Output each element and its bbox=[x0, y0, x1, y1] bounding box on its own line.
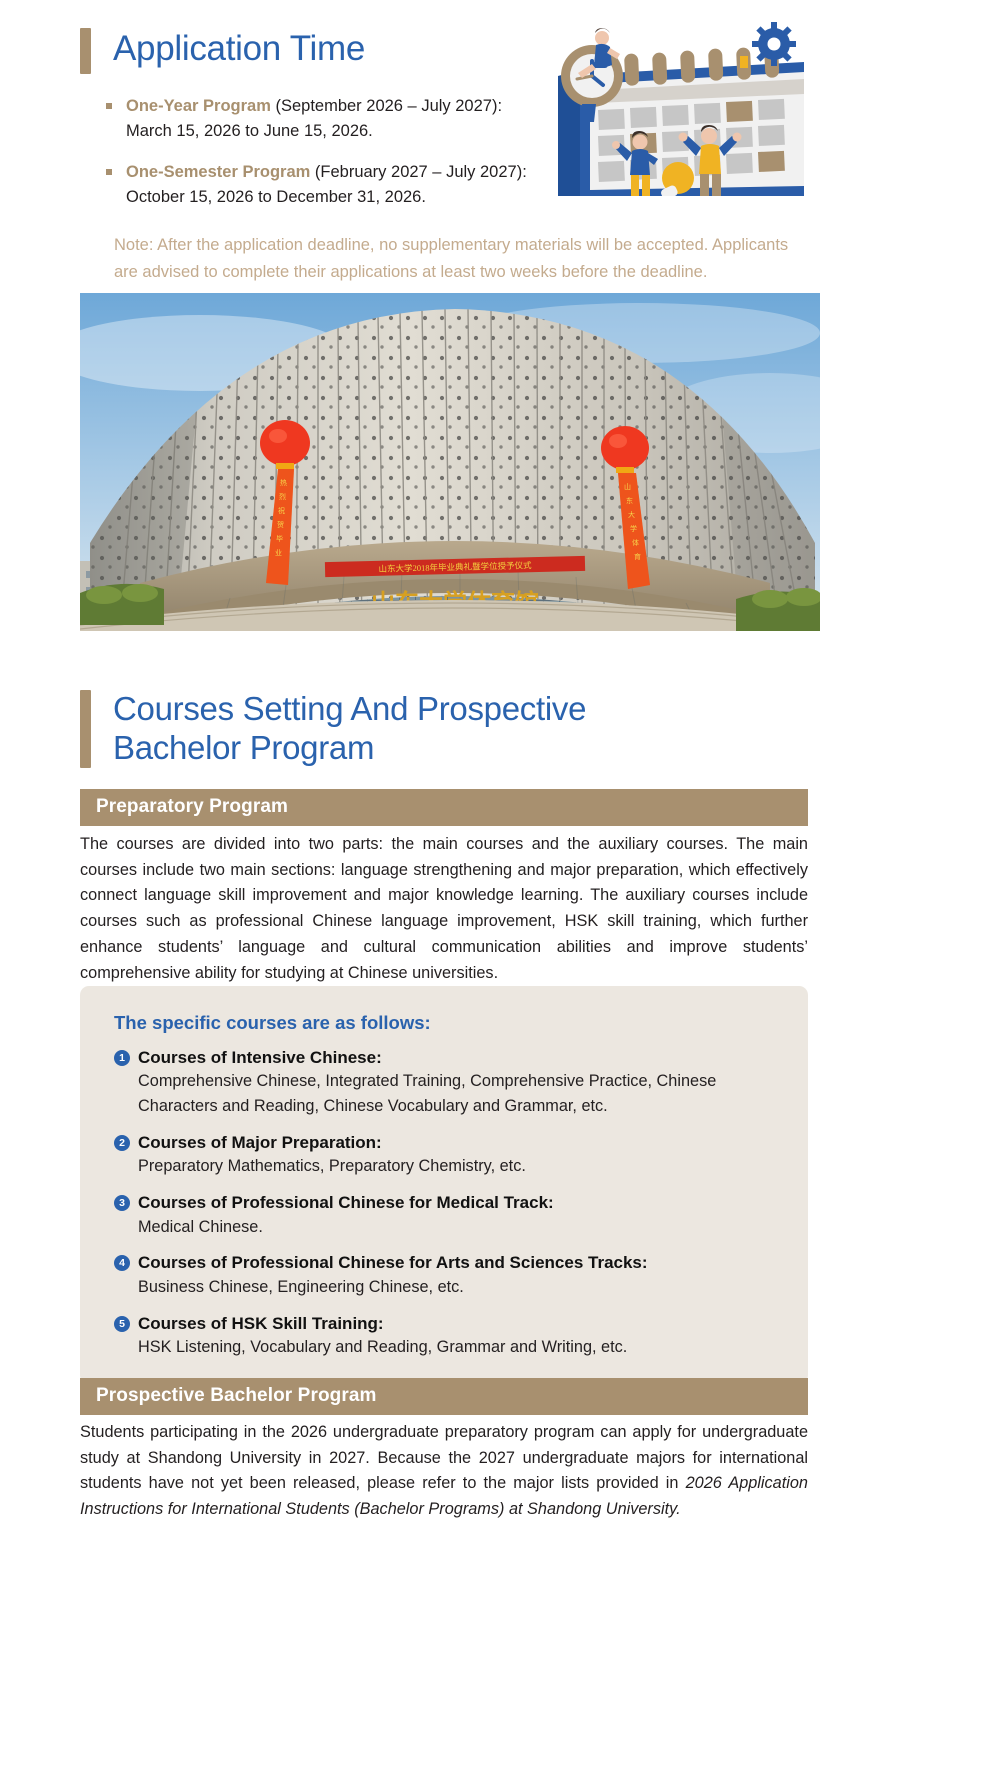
course-title: Courses of Intensive Chinese: bbox=[138, 1047, 382, 1069]
section-title: Courses Setting And Prospective Bachelor… bbox=[113, 690, 586, 768]
list-item: One-Semester Program (February 2027 – Ju… bbox=[106, 160, 550, 210]
svg-text:山: 山 bbox=[624, 482, 631, 491]
application-time-bullets: One-Year Program (September 2026 – July … bbox=[106, 94, 550, 210]
svg-text:贺: 贺 bbox=[277, 520, 284, 529]
course-title-row: 5 Courses of HSK Skill Training: bbox=[114, 1313, 778, 1335]
card-heading: The specific courses are as follows: bbox=[114, 1012, 778, 1034]
svg-text:大: 大 bbox=[628, 510, 635, 519]
list-item: 2 Courses of Major Preparation: Preparat… bbox=[114, 1132, 778, 1179]
prospective-bachelor-program-paragraph: Students participating in the 2026 under… bbox=[80, 1420, 808, 1523]
svg-text:祝: 祝 bbox=[278, 506, 285, 515]
page-title: Application Time bbox=[113, 28, 365, 69]
svg-text:育: 育 bbox=[634, 552, 641, 561]
preparatory-program-band: Preparatory Program bbox=[80, 789, 808, 826]
calendar-clock-illustration bbox=[536, 18, 804, 196]
bullet-strong-label: One-Semester Program bbox=[126, 163, 310, 181]
heading-accent-bar bbox=[80, 690, 91, 768]
svg-text:学: 学 bbox=[630, 524, 637, 533]
pbp-text-part3: . bbox=[676, 1500, 681, 1518]
preparatory-program-paragraph: The courses are divided into two parts: … bbox=[80, 832, 808, 986]
course-title: Courses of Professional Chinese for Arts… bbox=[138, 1252, 648, 1274]
heading-accent-bar bbox=[80, 28, 91, 74]
course-detail: Medical Chinese. bbox=[138, 1215, 778, 1240]
list-item: One-Year Program (September 2026 – July … bbox=[106, 94, 550, 144]
course-title: Courses of Professional Chinese for Medi… bbox=[138, 1192, 554, 1214]
list-item: 1 Courses of Intensive Chinese: Comprehe… bbox=[114, 1047, 778, 1119]
course-title: Courses of Major Preparation: bbox=[138, 1132, 382, 1154]
courses-section: Courses Setting And Prospective Bachelor… bbox=[80, 690, 820, 768]
course-detail: HSK Listening, Vocabulary and Reading, G… bbox=[138, 1335, 778, 1360]
course-title-row: 1 Courses of Intensive Chinese: bbox=[114, 1047, 778, 1069]
shandong-university-gymnasium-photo: 山东大学体育馆 SHANDONG UNIVERSITY GYMNASIUM 热烈… bbox=[80, 293, 820, 631]
application-time-section: Application Time One-Year Program (Septe… bbox=[80, 28, 550, 226]
svg-text:业: 业 bbox=[275, 548, 282, 557]
svg-text:毕: 毕 bbox=[276, 534, 283, 543]
course-title-row: 3 Courses of Professional Chinese for Me… bbox=[114, 1192, 778, 1214]
application-note: Note: After the application deadline, no… bbox=[114, 232, 804, 285]
svg-text:体: 体 bbox=[632, 538, 639, 547]
course-detail: Business Chinese, Engineering Chinese, e… bbox=[138, 1275, 778, 1300]
courses-heading: Courses Setting And Prospective Bachelor… bbox=[80, 690, 820, 768]
course-title-row: 2 Courses of Major Preparation: bbox=[114, 1132, 778, 1154]
course-title-row: 4 Courses of Professional Chinese for Ar… bbox=[114, 1252, 778, 1274]
svg-text:东: 东 bbox=[626, 496, 633, 505]
list-item: 5 Courses of HSK Skill Training: HSK Lis… bbox=[114, 1313, 778, 1360]
number-badge-5: 5 bbox=[114, 1316, 130, 1332]
number-badge-1: 1 bbox=[114, 1050, 130, 1066]
course-detail: Comprehensive Chinese, Integrated Traini… bbox=[138, 1069, 778, 1119]
bullet-strong-label: One-Year Program bbox=[126, 97, 271, 115]
number-badge-4: 4 bbox=[114, 1255, 130, 1271]
application-time-heading: Application Time bbox=[80, 28, 550, 74]
number-badge-2: 2 bbox=[114, 1135, 130, 1151]
list-item: 4 Courses of Professional Chinese for Ar… bbox=[114, 1252, 778, 1299]
document-page: Application Time One-Year Program (Septe… bbox=[0, 0, 1000, 1771]
list-item: 3 Courses of Professional Chinese for Me… bbox=[114, 1192, 778, 1239]
svg-text:热: 热 bbox=[280, 478, 287, 487]
svg-text:烈: 烈 bbox=[279, 492, 286, 501]
prospective-bachelor-program-band: Prospective Bachelor Program bbox=[80, 1378, 808, 1415]
specific-courses-card: The specific courses are as follows: 1 C… bbox=[80, 986, 808, 1384]
course-title: Courses of HSK Skill Training: bbox=[138, 1313, 384, 1335]
course-detail: Preparatory Mathematics, Preparatory Che… bbox=[138, 1154, 778, 1179]
number-badge-3: 3 bbox=[114, 1195, 130, 1211]
